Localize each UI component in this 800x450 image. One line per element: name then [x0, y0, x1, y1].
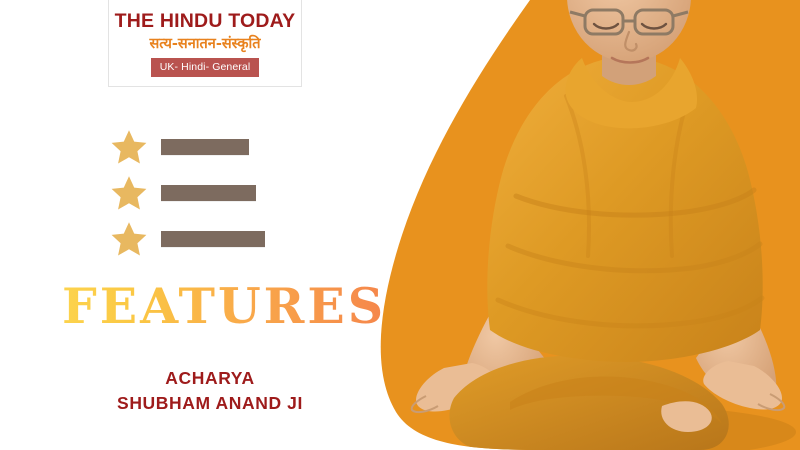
speaker-name: ACHARYA SHUBHAM ANAND JI	[0, 366, 420, 417]
list-item	[110, 170, 280, 216]
star-icon	[110, 174, 148, 212]
feature-bullet-list	[110, 124, 280, 262]
list-item	[110, 124, 280, 170]
placeholder-bar	[161, 139, 249, 155]
star-icon	[110, 128, 148, 166]
speaker-name-line-2: SHUBHAM ANAND JI	[0, 391, 420, 416]
logo-title: THE HINDU TODAY	[115, 11, 296, 32]
star-icon	[110, 220, 148, 258]
poster-canvas: THE HINDU TODAY सत्य-सनातन-संस्कृति UK- …	[0, 0, 800, 450]
placeholder-bar	[161, 231, 265, 247]
orange-teardrop-shape	[370, 0, 800, 450]
speaker-name-line-1: ACHARYA	[0, 366, 420, 391]
placeholder-bar	[161, 185, 256, 201]
features-headline: FEATURES	[62, 282, 386, 331]
logo-card: THE HINDU TODAY सत्य-सनातन-संस्कृति UK- …	[108, 0, 302, 87]
list-item	[110, 216, 280, 262]
hero-panel	[370, 0, 800, 450]
logo-category-badge: UK- Hindi- General	[151, 58, 260, 77]
logo-subtitle: सत्य-सनातन-संस्कृति	[150, 36, 261, 53]
